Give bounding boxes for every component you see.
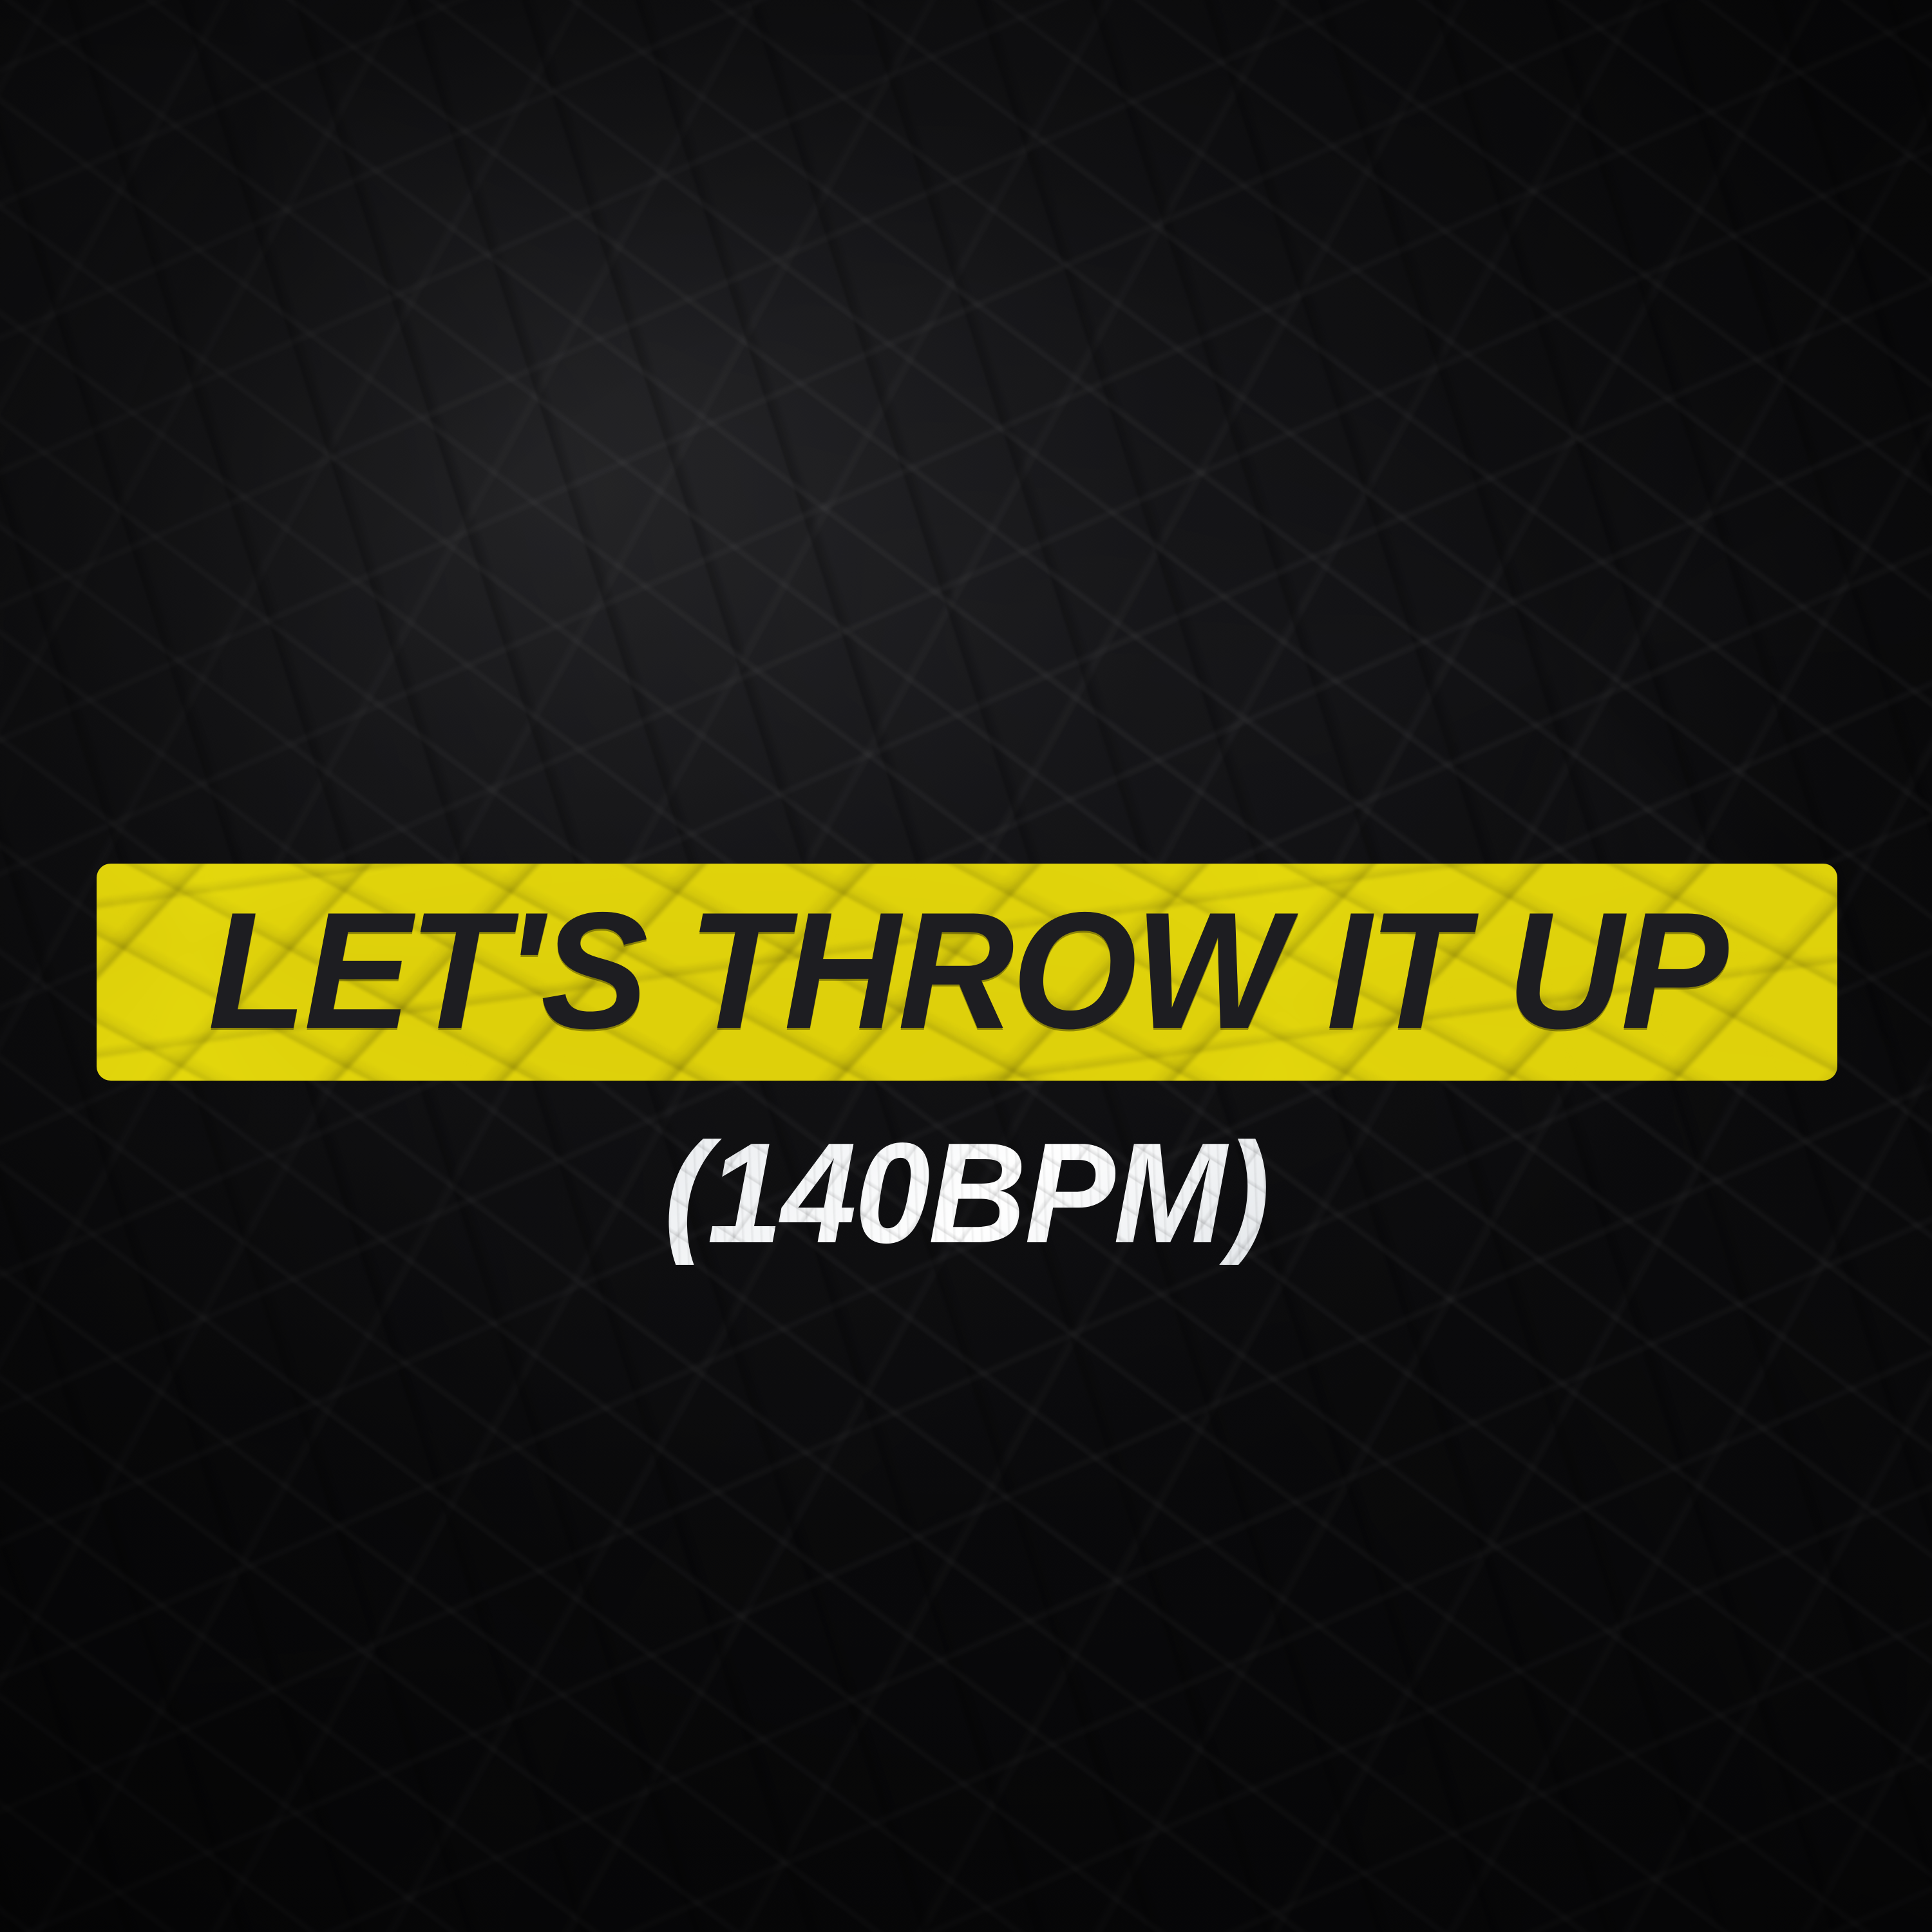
djsalis-logo: DJSALIS xyxy=(621,688,1317,857)
bpm-label: (140BPM) xyxy=(48,1122,1884,1265)
logo-letterforms xyxy=(621,688,1317,857)
track-title: LET'S THROW IT UP xyxy=(123,864,1812,1081)
title-highlight-bar: LET'S THROW IT UP xyxy=(97,864,1837,1081)
djsalis-logo-svg xyxy=(621,688,1317,857)
album-cover-artwork: DJSALIS LET'S THROW IT UP (140BPM) xyxy=(0,0,1932,1932)
